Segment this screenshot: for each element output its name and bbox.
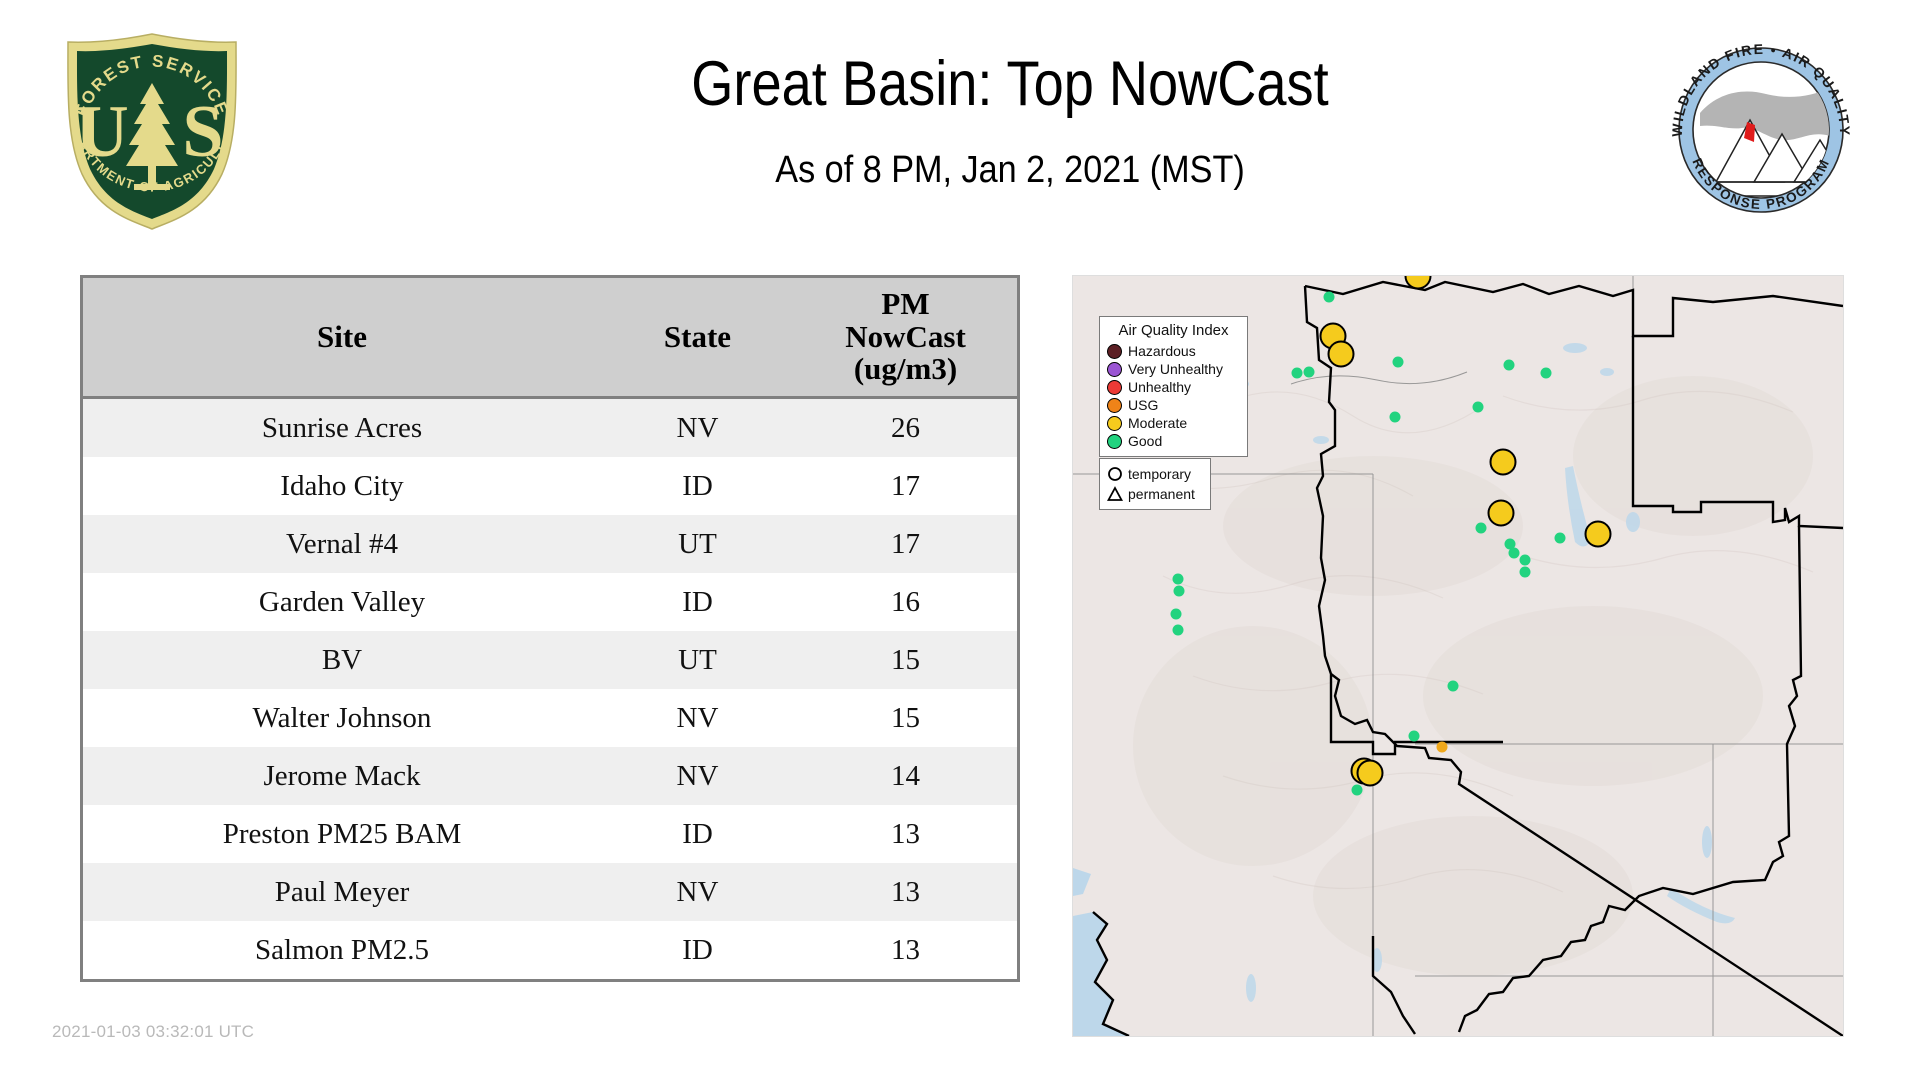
cell-site: Paul Meyer xyxy=(82,863,602,921)
cell-pm: 13 xyxy=(794,863,1019,921)
swatch-usg-icon xyxy=(1107,398,1122,413)
station-marker-moderate[interactable] xyxy=(1488,500,1515,527)
column-header-state-label: State xyxy=(664,319,731,354)
cell-site: Vernal #4 xyxy=(82,515,602,573)
legend-item-good[interactable]: Good xyxy=(1107,432,1240,450)
station-marker-moderate[interactable] xyxy=(1585,521,1612,548)
station-marker-moderate[interactable] xyxy=(1328,341,1355,368)
table-row[interactable]: Garden Valley ID 16 xyxy=(82,573,1019,631)
station-marker-good[interactable] xyxy=(1174,586,1185,597)
table-row[interactable]: Idaho City ID 17 xyxy=(82,457,1019,515)
station-marker-good[interactable] xyxy=(1173,625,1184,636)
station-marker-good[interactable] xyxy=(1541,368,1552,379)
station-marker-good[interactable] xyxy=(1520,567,1531,578)
legend-item-moderate[interactable]: Moderate xyxy=(1107,414,1240,432)
station-marker-moderate[interactable] xyxy=(1357,760,1384,787)
cell-site: Sunrise Acres xyxy=(82,398,602,458)
top-nowcast-table: Site State PM NowCast (ug/m3) Sunrise Ac… xyxy=(80,275,1020,982)
table-row[interactable]: Jerome Mack NV 14 xyxy=(82,747,1019,805)
cell-state: UT xyxy=(601,515,794,573)
station-marker-good[interactable] xyxy=(1171,609,1182,620)
swatch-hazardous-icon xyxy=(1107,344,1122,359)
cell-state: ID xyxy=(601,805,794,863)
generated-timestamp: 2021-01-03 03:32:01 UTC xyxy=(52,1022,254,1042)
cell-state: NV xyxy=(601,689,794,747)
legend-station-type: temporary permanent xyxy=(1099,458,1211,510)
swatch-good-icon xyxy=(1107,434,1122,449)
table-header: Site State PM NowCast (ug/m3) xyxy=(82,277,1019,398)
station-marker-good[interactable] xyxy=(1173,574,1184,585)
legend-label-unhealthy: Unhealthy xyxy=(1128,380,1191,394)
station-marker-good[interactable] xyxy=(1390,412,1401,423)
cell-pm: 13 xyxy=(794,805,1019,863)
usda-forest-service-logo: FOREST SERVICE U S DEPARTMENT OF AGRICUL… xyxy=(52,28,252,233)
legend-label-very-unhealthy: Very Unhealthy xyxy=(1128,362,1223,376)
table-row[interactable]: Preston PM25 BAM ID 13 xyxy=(82,805,1019,863)
station-marker-good[interactable] xyxy=(1555,533,1566,544)
legend-label-good: Good xyxy=(1128,434,1162,448)
station-marker-good[interactable] xyxy=(1476,523,1487,534)
station-marker-good[interactable] xyxy=(1409,731,1420,742)
legend-label-permanent: permanent xyxy=(1128,486,1195,502)
column-header-site-label: Site xyxy=(317,319,367,354)
cell-site: Salmon PM2.5 xyxy=(82,921,602,981)
swatch-very-unhealthy-icon xyxy=(1107,362,1122,377)
cell-state: ID xyxy=(601,921,794,981)
swatch-unhealthy-icon xyxy=(1107,380,1122,395)
station-marker-good[interactable] xyxy=(1304,367,1315,378)
station-marker-good[interactable] xyxy=(1352,785,1363,796)
table-row[interactable]: Walter Johnson NV 15 xyxy=(82,689,1019,747)
legend-item-temporary[interactable]: temporary xyxy=(1107,464,1203,484)
page-title: Great Basin: Top NowCast xyxy=(503,50,1518,119)
cell-pm: 13 xyxy=(794,921,1019,981)
station-marker-good[interactable] xyxy=(1292,368,1303,379)
station-marker-good[interactable] xyxy=(1473,402,1484,413)
air-quality-map[interactable]: Air Quality Index Hazardous Very Unhealt… xyxy=(1072,275,1844,1037)
cell-pm: 16 xyxy=(794,573,1019,631)
station-marker-good[interactable] xyxy=(1509,548,1520,559)
table-row[interactable]: Sunrise Acres NV 26 xyxy=(82,398,1019,458)
station-marker-good[interactable] xyxy=(1520,555,1531,566)
cell-state: UT xyxy=(601,631,794,689)
top-nowcast-table-container: Site State PM NowCast (ug/m3) Sunrise Ac… xyxy=(80,275,990,982)
swatch-moderate-icon xyxy=(1107,416,1122,431)
table-row[interactable]: Vernal #4 UT 17 xyxy=(82,515,1019,573)
station-marker-good[interactable] xyxy=(1393,357,1404,368)
legend-item-hazardous[interactable]: Hazardous xyxy=(1107,342,1240,360)
column-header-pm-line2: NowCast xyxy=(798,321,1013,354)
triangle-icon xyxy=(1107,486,1123,502)
cell-pm: 15 xyxy=(794,631,1019,689)
legend-label-moderate: Moderate xyxy=(1128,416,1187,430)
legend-item-unhealthy[interactable]: Unhealthy xyxy=(1107,378,1240,396)
station-marker-moderate[interactable] xyxy=(1490,449,1517,476)
cell-site: BV xyxy=(82,631,602,689)
legend-item-very-unhealthy[interactable]: Very Unhealthy xyxy=(1107,360,1240,378)
column-header-pm-line1: PM xyxy=(798,288,1013,321)
legend-label-usg: USG xyxy=(1128,398,1158,412)
table-body: Sunrise Acres NV 26 Idaho City ID 17 Ver… xyxy=(82,398,1019,981)
cell-site: Jerome Mack xyxy=(82,747,602,805)
page-subtitle: As of 8 PM, Jan 2, 2021 (MST) xyxy=(479,150,1541,192)
cell-state: ID xyxy=(601,573,794,631)
cell-site: Garden Valley xyxy=(82,573,602,631)
legend-item-usg[interactable]: USG xyxy=(1107,396,1240,414)
station-marker-usg[interactable] xyxy=(1437,742,1448,753)
table-row[interactable]: Salmon PM2.5 ID 13 xyxy=(82,921,1019,981)
table-header-row: Site State PM NowCast (ug/m3) xyxy=(82,277,1019,398)
legend-item-permanent[interactable]: permanent xyxy=(1107,484,1203,504)
cell-pm: 17 xyxy=(794,515,1019,573)
legend-air-quality-index: Air Quality Index Hazardous Very Unhealt… xyxy=(1099,316,1248,457)
legend-label-temporary: temporary xyxy=(1128,466,1191,482)
cell-state: NV xyxy=(601,398,794,458)
wildland-fire-air-quality-program-logo: WILDLAND FIRE • AIR QUALITY RESPONSE PRO… xyxy=(1658,30,1863,230)
circle-icon xyxy=(1107,466,1123,482)
table-row[interactable]: Paul Meyer NV 13 xyxy=(82,863,1019,921)
cell-state: NV xyxy=(601,747,794,805)
column-header-site[interactable]: Site xyxy=(82,277,602,398)
cell-site: Walter Johnson xyxy=(82,689,602,747)
cell-pm: 14 xyxy=(794,747,1019,805)
cell-pm: 26 xyxy=(794,398,1019,458)
column-header-pm-nowcast[interactable]: PM NowCast (ug/m3) xyxy=(794,277,1019,398)
column-header-state[interactable]: State xyxy=(601,277,794,398)
cell-site: Preston PM25 BAM xyxy=(82,805,602,863)
cell-pm: 15 xyxy=(794,689,1019,747)
cell-state: ID xyxy=(601,457,794,515)
table-row[interactable]: BV UT 15 xyxy=(82,631,1019,689)
cell-site: Idaho City xyxy=(82,457,602,515)
column-header-pm-line3: (ug/m3) xyxy=(798,353,1013,386)
cell-pm: 17 xyxy=(794,457,1019,515)
legend-title: Air Quality Index xyxy=(1107,322,1240,339)
station-marker-good[interactable] xyxy=(1504,360,1515,371)
station-marker-good[interactable] xyxy=(1324,292,1335,303)
cell-state: NV xyxy=(601,863,794,921)
station-marker-good[interactable] xyxy=(1448,681,1459,692)
page-header: FOREST SERVICE U S DEPARTMENT OF AGRICUL… xyxy=(0,0,1920,225)
legend-label-hazardous: Hazardous xyxy=(1128,344,1196,358)
